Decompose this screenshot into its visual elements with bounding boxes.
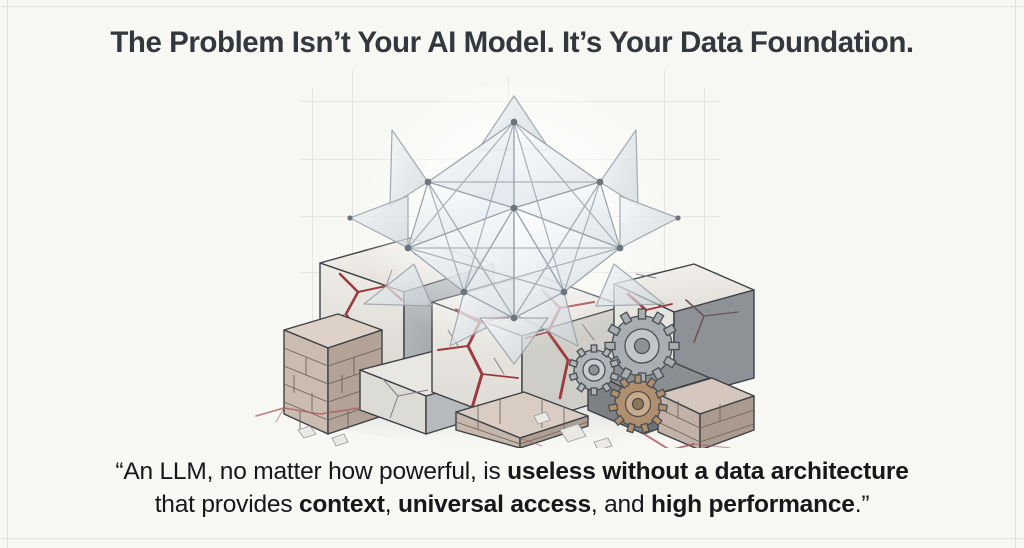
- caption-emphasis-high-performance: high performance: [651, 491, 855, 518]
- caption-sep-1: ,: [385, 491, 398, 518]
- illustration-container: [242, 78, 802, 448]
- caption-emphasis-context: context: [299, 491, 385, 518]
- caption-sep-2: , and: [591, 491, 651, 518]
- frame-top-border: [0, 6, 1024, 7]
- caption-line1-text: “An LLM, no matter how powerful, is: [115, 458, 507, 485]
- slide-canvas: The Problem Isn’t Your AI Model. It’s Yo…: [0, 0, 1024, 548]
- caption-line-1: “An LLM, no matter how powerful, is usel…: [0, 455, 1024, 488]
- caption-closing: .”: [855, 491, 870, 518]
- caption-line2-text: that provides: [155, 491, 299, 518]
- slide-title: The Problem Isn’t Your AI Model. It’s Yo…: [0, 26, 1024, 60]
- frame-bottom-border: [0, 538, 1024, 539]
- caption-line-2: that provides context, universal access,…: [0, 488, 1024, 521]
- caption-emphasis-universal-access: universal access: [398, 491, 591, 518]
- caption-line1-emphasis: useless without a data architecture: [507, 458, 908, 485]
- slide-caption: “An LLM, no matter how powerful, is usel…: [0, 455, 1024, 521]
